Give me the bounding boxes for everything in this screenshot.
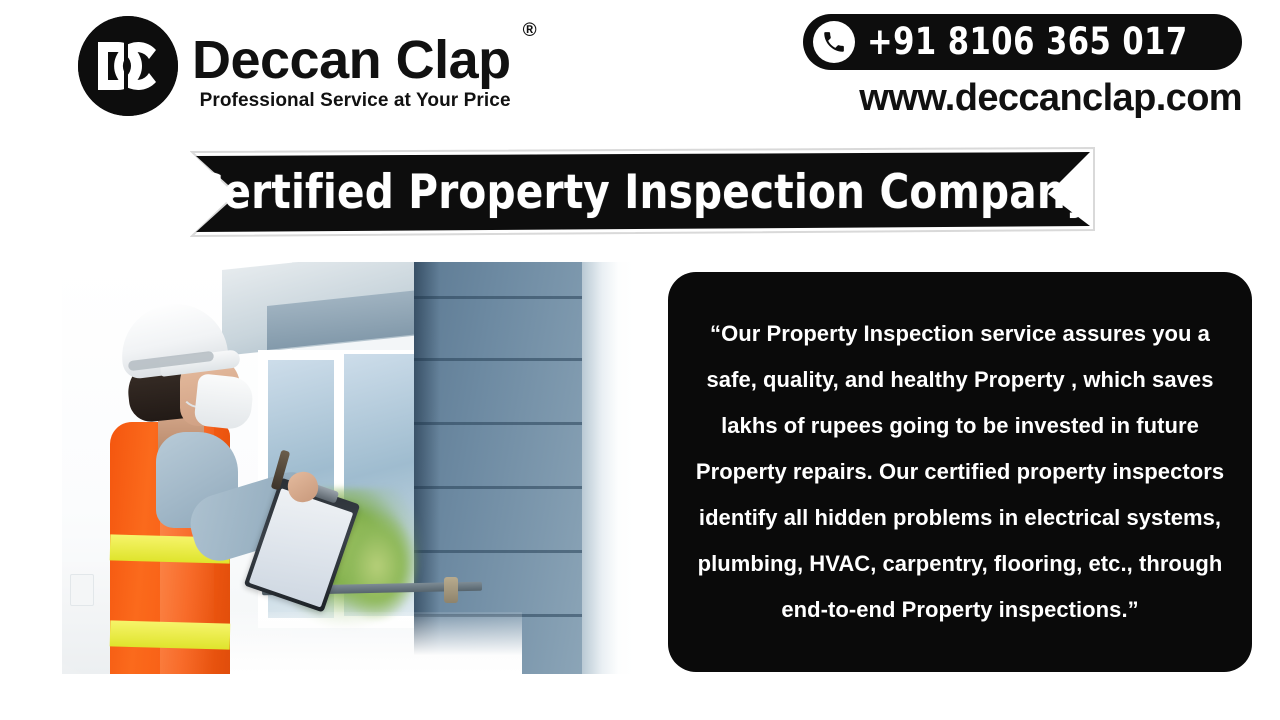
header: Deccan Clap ® Professional Service at Yo… (0, 0, 1280, 140)
photo-scene (62, 262, 634, 674)
photo-rail-bracket (444, 577, 458, 603)
brand-name: Deccan Clap (192, 32, 511, 88)
brand-lockup[interactable]: Deccan Clap ® Professional Service at Yo… (78, 16, 511, 116)
photo-face-mask (193, 373, 254, 431)
property-inspector-photo (62, 262, 634, 674)
ribbon-banner: Certified Property Inspection Company (190, 146, 1096, 240)
poster-canvas: Deccan Clap ® Professional Service at Yo… (0, 0, 1280, 720)
brand-text-block: Deccan Clap ® Professional Service at Yo… (192, 32, 511, 112)
phone-number: +91 8106 365 017 (867, 21, 1188, 63)
registered-trademark-icon: ® (523, 20, 537, 42)
quote-text: “Our Property Inspection service assures… (686, 311, 1234, 633)
quote-card: “Our Property Inspection service assures… (668, 272, 1252, 672)
phone-badge[interactable]: +91 8106 365 017 (803, 14, 1242, 70)
phone-icon (813, 21, 855, 63)
website-url[interactable]: www.deccanclap.com (803, 76, 1242, 120)
ribbon-title: Certified Property Inspection Company (208, 146, 1078, 240)
dc-monogram-icon (78, 16, 178, 116)
brand-tagline: Professional Service at Your Price (192, 90, 511, 112)
photo-right-column (582, 262, 634, 674)
contact-block: +91 8106 365 017 www.deccanclap.com (803, 14, 1242, 120)
photo-inspector-figure (84, 304, 304, 674)
photo-vest-stripe-lower (110, 620, 231, 649)
